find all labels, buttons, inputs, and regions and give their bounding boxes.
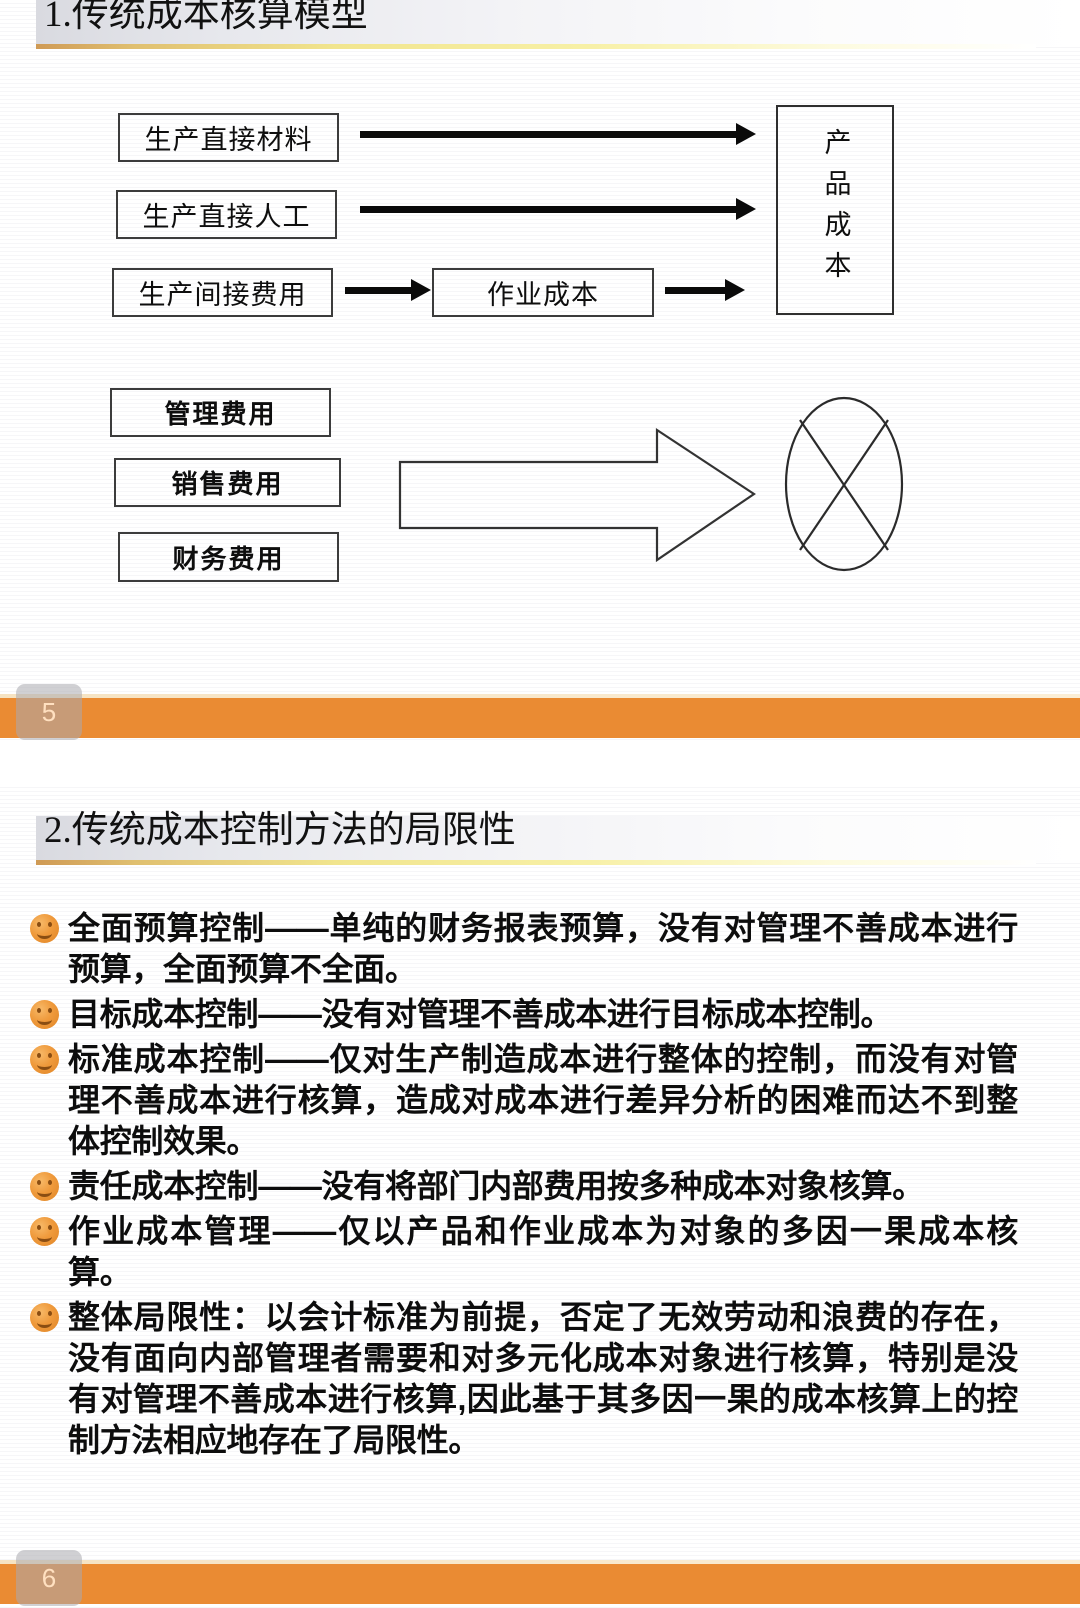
bullet-text: 目标成本控制——没有对管理不善成本进行目标成本控制。 [68,994,1018,1035]
arrow-indirect-to-activity [345,287,413,294]
box-label: 销售费用 [171,464,283,501]
smiley-bullet-icon [30,914,59,943]
arrow-activity-to-product [665,287,727,294]
bullet-text: 全面预算控制——单纯的财务报表预算，没有对管理不善成本进行预算，全面预算不全面。 [68,908,1018,990]
crossed-out-ellipse-icon [776,392,916,582]
block-arrow-icon [392,420,762,570]
list-item: 整体局限性：以会计标准为前提，否定了无效劳动和浪费的存在，没有面向内部管理者需要… [0,1297,1080,1461]
box-label: 管理费用 [164,394,276,431]
box-direct-labor: 生产直接人工 [116,190,337,239]
slide-separator [0,742,1080,784]
box-finance-expense: 财务费用 [118,532,339,582]
box-label: 作业成本 [487,273,599,312]
smiley-bullet-icon [30,1217,59,1246]
title-band: 2.传统成本控制方法的局限性 [36,816,1080,862]
box-indirect-expense: 生产间接费用 [112,268,333,317]
box-product-cost: 产品成本 [776,105,894,315]
slide-1: 1.传统成本核算模型 生产直接材料 生产直接人工 生产间接费用 [0,0,1080,742]
smiley-bullet-icon [30,1303,59,1332]
arrow-head-icon [725,279,745,301]
slide-2-title-block: 2.传统成本控制方法的局限性 [0,816,1080,862]
page-title: 2.传统成本控制方法的局限性 [44,808,516,854]
box-activity-cost: 作业成本 [432,268,654,317]
page-number-badge: 5 [16,684,82,740]
box-direct-material: 生产直接材料 [118,113,339,162]
cost-accounting-diagram: 生产直接材料 生产直接人工 生产间接费用 作业成本 [0,0,1080,742]
box-admin-expense: 管理费用 [110,388,331,437]
footer-bar-slide-1 [0,698,1080,738]
limitations-bullet-list: 全面预算控制——单纯的财务报表预算，没有对管理不善成本进行预算，全面预算不全面。… [0,908,1080,1465]
page-number: 5 [42,697,56,728]
arrow-head-icon [736,198,756,220]
arrow-head-icon [411,279,431,301]
footer-bar-slide-2 [0,1564,1080,1604]
slide-2: 2.传统成本控制方法的局限性 全面预算控制——单纯的财务报表预算，没有对管理不善… [0,784,1080,1608]
smiley-bullet-icon [30,1000,59,1029]
box-label: 财务费用 [172,539,284,576]
box-label: 生产直接材料 [145,118,313,157]
list-item: 作业成本管理——仅以产品和作业成本为对象的多因一果成本核算。 [0,1211,1080,1293]
arrow-material-to-product [360,131,738,138]
page-number: 6 [42,1563,56,1594]
bullet-text: 标准成本控制——仅对生产制造成本进行整体的控制，而没有对管理不善成本进行核算，造… [68,1039,1018,1162]
box-label: 生产直接人工 [143,195,311,234]
list-item: 目标成本控制——没有对管理不善成本进行目标成本控制。 [0,994,1080,1035]
title-underline-rule [36,860,1036,865]
smiley-bullet-icon [30,1045,59,1074]
arrow-head-icon [736,123,756,145]
box-label: 生产间接费用 [139,273,307,312]
list-item: 全面预算控制——单纯的财务报表预算，没有对管理不善成本进行预算，全面预算不全面。 [0,908,1080,990]
list-item: 标准成本控制——仅对生产制造成本进行整体的控制，而没有对管理不善成本进行核算，造… [0,1039,1080,1162]
slides-page: 1.传统成本核算模型 生产直接材料 生产直接人工 生产间接费用 [0,0,1080,1608]
bullet-text: 整体局限性：以会计标准为前提，否定了无效劳动和浪费的存在，没有面向内部管理者需要… [68,1297,1018,1461]
smiley-bullet-icon [30,1172,59,1201]
list-item: 责任成本控制——没有将部门内部费用按多种成本对象核算。 [0,1166,1080,1207]
box-label-vertical: 产品成本 [822,128,849,292]
bullet-text: 责任成本控制——没有将部门内部费用按多种成本对象核算。 [68,1166,1018,1207]
bullet-text: 作业成本管理——仅以产品和作业成本为对象的多因一果成本核算。 [68,1211,1018,1293]
box-sales-expense: 销售费用 [114,458,341,507]
arrow-labor-to-product [360,206,738,213]
page-number-badge: 6 [16,1550,82,1606]
